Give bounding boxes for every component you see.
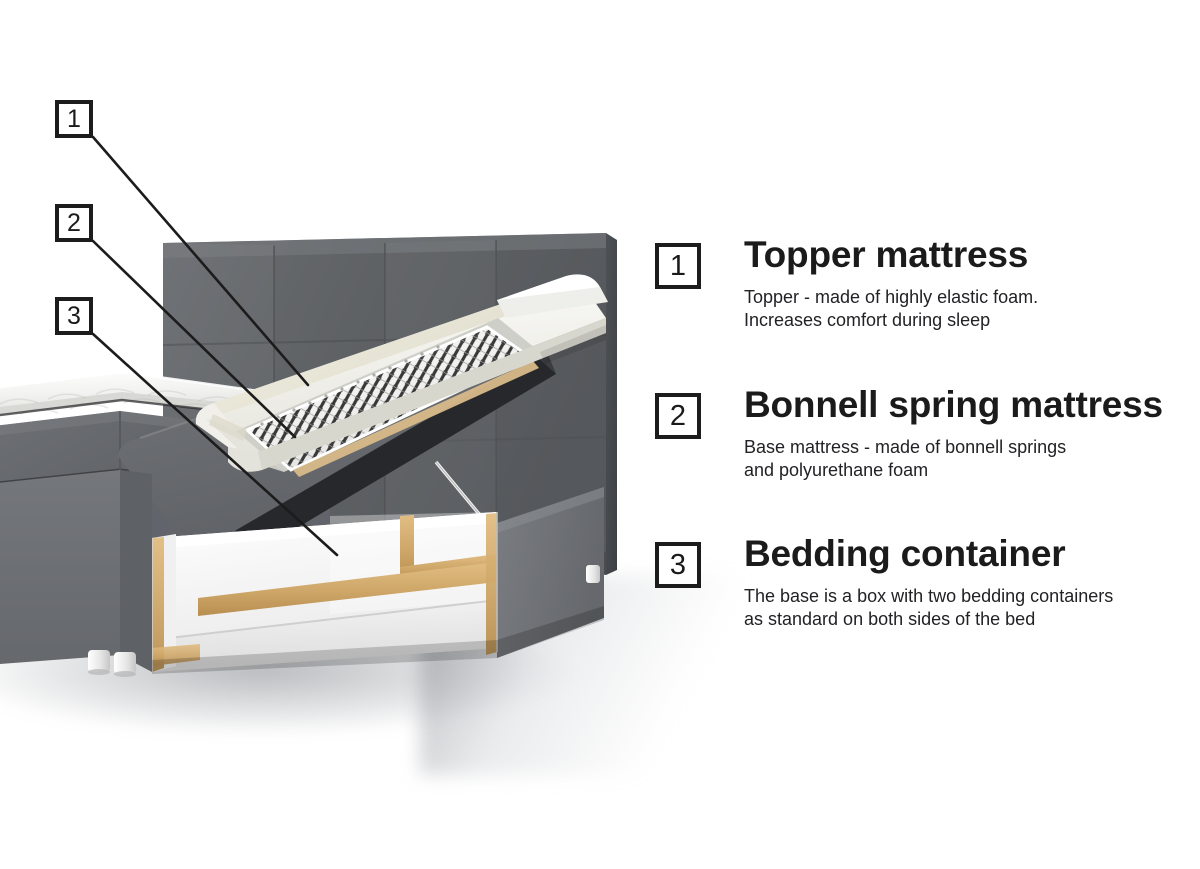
legend-description-1: Topper - made of highly elastic foam. In… — [744, 286, 1038, 333]
legend-title-1: Topper mattress — [744, 236, 1038, 273]
callout-marker-1: 1 — [55, 100, 93, 138]
legend-item-bedding-container: 3 Bedding container The base is a box wi… — [655, 535, 1113, 632]
legend-number-1: 1 — [655, 243, 701, 289]
callout-marker-2: 2 — [55, 204, 93, 242]
legend-text-3: Bedding container The base is a box with… — [744, 535, 1113, 632]
legend-text-1: Topper mattress Topper - made of highly … — [744, 236, 1038, 333]
callout-marker-1-label: 1 — [67, 107, 81, 132]
legend-title-2: Bonnell spring mattress — [744, 386, 1163, 423]
legend-description-3: The base is a box with two bedding conta… — [744, 585, 1113, 632]
callout-marker-3: 3 — [55, 297, 93, 335]
boxspring-bed-illustration — [0, 0, 660, 720]
legend-item-topper-mattress: 1 Topper mattress Topper - made of highl… — [655, 236, 1038, 333]
legend-number-2-label: 2 — [670, 402, 686, 431]
legend-item-bonnell-spring-mattress: 2 Bonnell spring mattress Base mattress … — [655, 386, 1163, 483]
legend-number-3-label: 3 — [670, 551, 686, 580]
callout-marker-2-label: 2 — [67, 211, 81, 236]
legend-text-2: Bonnell spring mattress Base mattress - … — [744, 386, 1163, 483]
callout-marker-3-label: 3 — [67, 304, 81, 329]
legend-description-2: Base mattress - made of bonnell springs … — [744, 436, 1163, 483]
legend-number-1-label: 1 — [670, 252, 686, 281]
base-front-left-lower — [0, 470, 152, 672]
diagram-stage: 1 2 3 1 Topper mattress Topper - made of… — [0, 0, 1200, 869]
legend-title-3: Bedding container — [744, 535, 1113, 572]
legend-number-2: 2 — [655, 393, 701, 439]
legend-number-3: 3 — [655, 542, 701, 588]
